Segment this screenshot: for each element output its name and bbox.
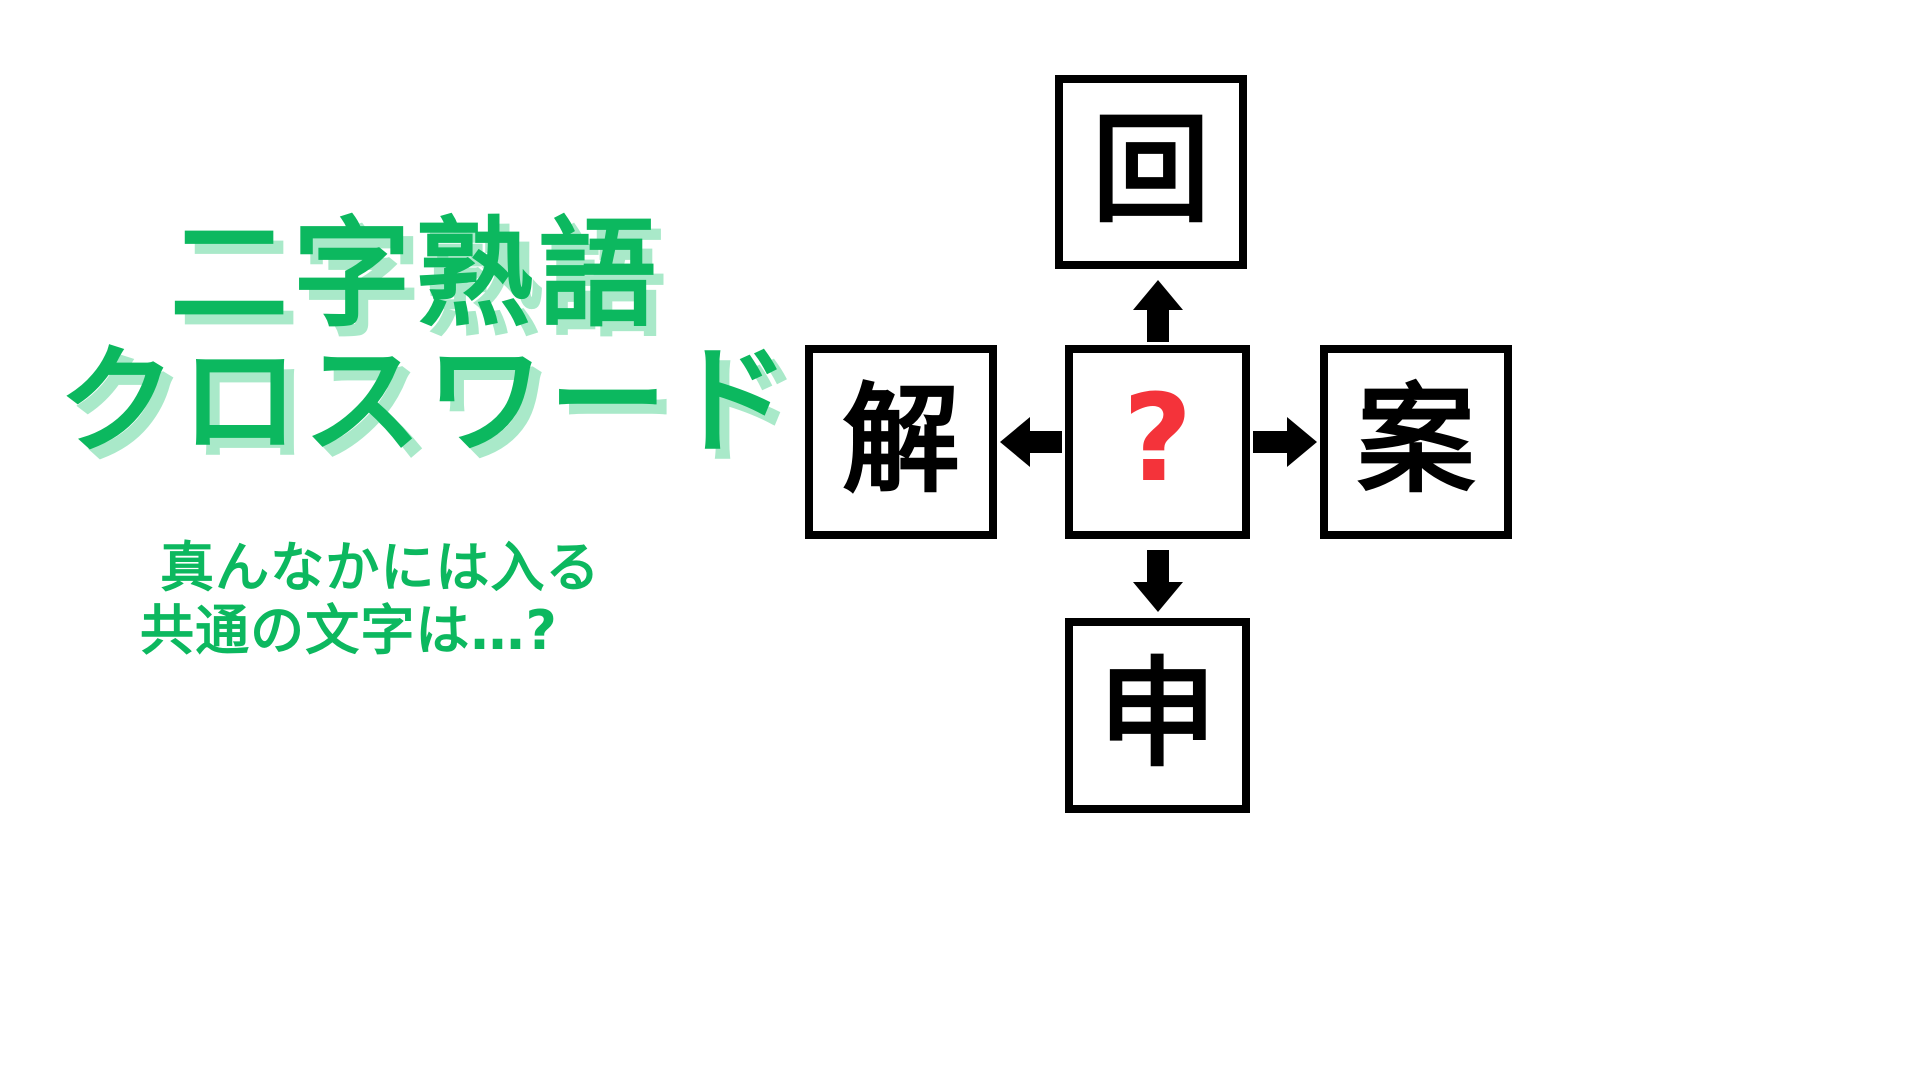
arrow-down-icon: [1065, 550, 1250, 612]
subtitle-line-1: 真んなかには入る: [160, 541, 601, 595]
crossword-diagram: 回 解 ? 案: [790, 40, 1920, 1040]
arrow-right-icon: [1253, 345, 1317, 539]
crossword-cell-top[interactable]: 回: [1055, 75, 1247, 269]
arrow-up-icon: [1065, 280, 1250, 342]
crossword-cell-left[interactable]: 解: [805, 345, 997, 539]
crossword-cell-top-kanji: 回: [1092, 111, 1210, 229]
arrow-up-shaft: [1147, 304, 1169, 342]
arrow-left-icon: [1000, 345, 1062, 539]
crossword-center-question-mark: ?: [1123, 380, 1193, 500]
arrow-right-shaft: [1253, 431, 1289, 453]
crossword-cell-right-kanji: 案: [1357, 381, 1475, 499]
subtitle-line-2: 共通の文字は…?: [140, 604, 558, 658]
arrow-left-shaft: [1026, 431, 1062, 453]
crossword-cell-bottom[interactable]: 申: [1065, 618, 1250, 813]
puzzle-canvas: 二字熟語 クロスワード 真んなかには入る 共通の文字は…? 回 解 ?: [0, 0, 1920, 1080]
arrow-down-head: [1133, 582, 1183, 612]
crossword-cell-bottom-kanji: 申: [1098, 655, 1216, 773]
page-title-line-1: 二字熟語: [170, 215, 661, 333]
crossword-cell-center[interactable]: ?: [1065, 345, 1250, 539]
page-title-line-2: クロスワード: [58, 342, 794, 460]
arrow-down-shaft: [1147, 550, 1169, 586]
crossword-cell-right[interactable]: 案: [1320, 345, 1512, 539]
arrow-right-head: [1287, 417, 1317, 467]
crossword-cell-left-kanji: 解: [842, 381, 960, 499]
title-panel: 二字熟語 クロスワード 真んなかには入る 共通の文字は…?: [0, 0, 800, 1080]
